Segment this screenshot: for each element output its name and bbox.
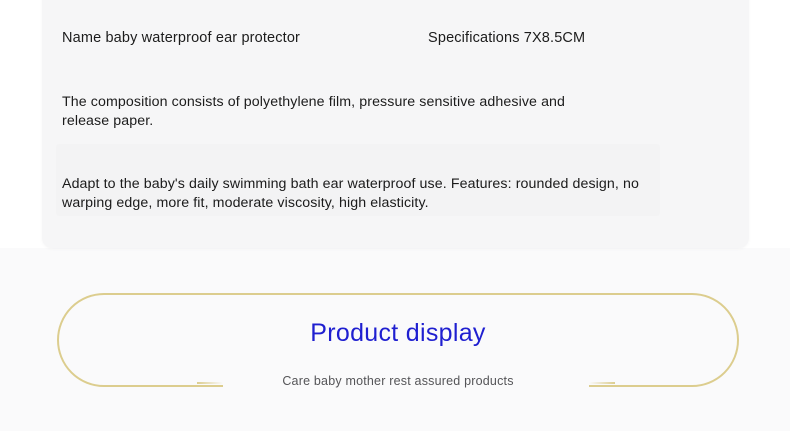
- page-root: Name baby waterproof ear protector Speci…: [0, 0, 790, 431]
- product-display-title: Product display: [57, 319, 739, 348]
- product-display-banner: Product display Care baby mother rest as…: [57, 293, 739, 387]
- product-name-text: Name baby waterproof ear protector: [62, 30, 300, 46]
- specification-card: Name baby waterproof ear protector Speci…: [42, 0, 749, 248]
- product-display-subtitle: Care baby mother rest assured products: [57, 374, 739, 388]
- product-specifications-text: Specifications 7X8.5CM: [428, 30, 585, 46]
- specification-header-row: Name baby waterproof ear protector Speci…: [62, 30, 732, 46]
- features-paragraph: Adapt to the baby's daily swimming bath …: [62, 175, 677, 213]
- composition-paragraph: The composition consists of polyethylene…: [62, 93, 582, 131]
